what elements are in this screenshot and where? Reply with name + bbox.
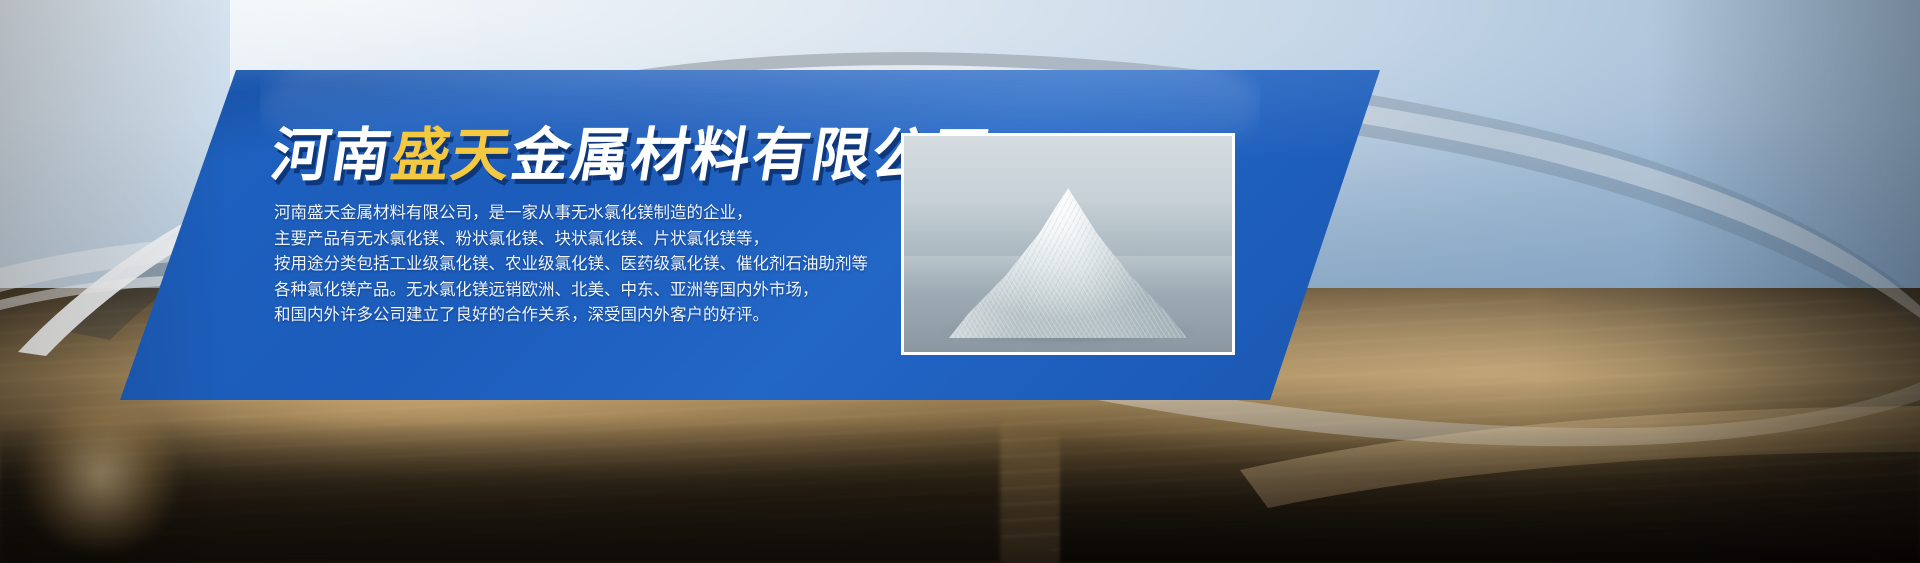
company-title: 河南盛天金属材料有限公司 — [267, 126, 996, 184]
title-part-1: 河南 — [267, 126, 396, 184]
title-part-highlight: 盛天 — [387, 126, 516, 184]
description-line-2: 主要产品有无水氯化镁、粉状氯化镁、块状氯化镁、片状氯化镁等， — [274, 226, 974, 252]
company-hero-banner: 河南盛天金属材料有限公司 河南盛天金属材料有限公司，是一家从事无水氯化镁制造的企… — [0, 0, 1920, 563]
description-line-5: 和国内外许多公司建立了良好的合作关系，深受国内外客户的好评。 — [274, 302, 974, 328]
description-line-1: 河南盛天金属材料有限公司，是一家从事无水氯化镁制造的企业， — [274, 200, 974, 226]
product-photo — [901, 133, 1235, 355]
description-line-3: 按用途分类包括工业级氯化镁、农业级氯化镁、医药级氯化镁、催化剂石油助剂等 — [274, 251, 974, 277]
lens-flare — [10, 400, 190, 550]
description-line-4: 各种氯化镁产品。无水氯化镁远销欧洲、北美、中东、亚洲等国内外市场， — [274, 277, 974, 303]
company-description: 河南盛天金属材料有限公司，是一家从事无水氯化镁制造的企业， 主要产品有无水氯化镁… — [274, 200, 974, 328]
right-dark-band — [1060, 430, 1920, 563]
